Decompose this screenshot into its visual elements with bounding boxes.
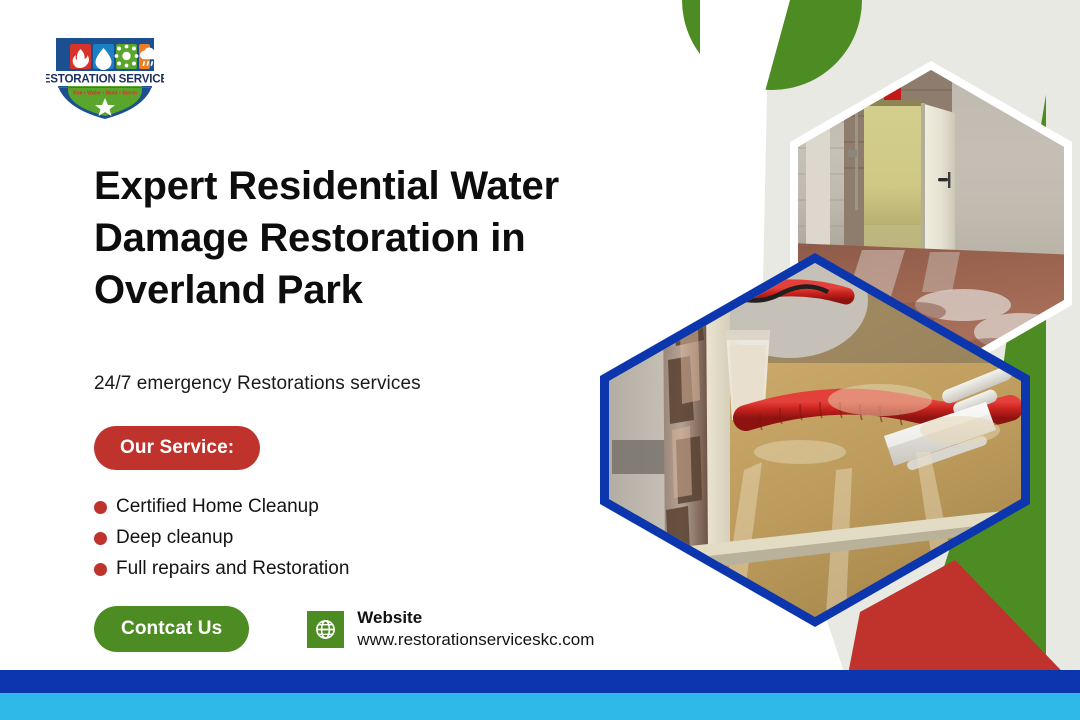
logo-panels	[70, 44, 157, 70]
contact-us-button[interactable]: Contcat Us	[94, 606, 249, 652]
bullet-dot-icon	[94, 501, 107, 514]
list-item-label: Certified Home Cleanup	[116, 496, 319, 518]
service-list: Certified Home Cleanup Deep cleanup Full…	[94, 496, 674, 580]
website-block[interactable]: Website www.restorationserviceskc.com	[307, 607, 594, 651]
cta-row: Contcat Us Website www.restorationservic…	[94, 606, 674, 652]
hero-content: Expert Residential Water Damage Restorat…	[94, 160, 674, 652]
footer-bar-cyan	[0, 693, 1080, 720]
list-item-label: Deep cleanup	[116, 527, 233, 549]
website-url[interactable]: www.restorationserviceskc.com	[357, 629, 594, 651]
bullet-dot-icon	[94, 563, 107, 576]
company-logo[interactable]: RESTORATION SERVICES Fire • Water • Mold…	[46, 30, 164, 122]
list-item: Deep cleanup	[94, 527, 674, 549]
logo-tagline: Fire • Water • Mold • Storm	[73, 91, 137, 97]
logo-wordmark: RESTORATION SERVICES	[46, 73, 164, 86]
hero-subhead: 24/7 emergency Restorations services	[94, 373, 674, 395]
list-item-label: Full repairs and Restoration	[116, 558, 349, 580]
list-item: Certified Home Cleanup	[94, 496, 674, 518]
page-title: Expert Residential Water Damage Restorat…	[94, 160, 604, 316]
website-label: Website	[357, 607, 594, 629]
globe-icon	[307, 611, 344, 648]
status-badge: Our Service:	[94, 426, 260, 470]
list-item: Full repairs and Restoration	[94, 558, 674, 580]
footer-bar-blue	[0, 670, 1080, 693]
flyer-canvas: RESTORATION SERVICES Fire • Water • Mold…	[0, 0, 1080, 720]
bullet-dot-icon	[94, 532, 107, 545]
